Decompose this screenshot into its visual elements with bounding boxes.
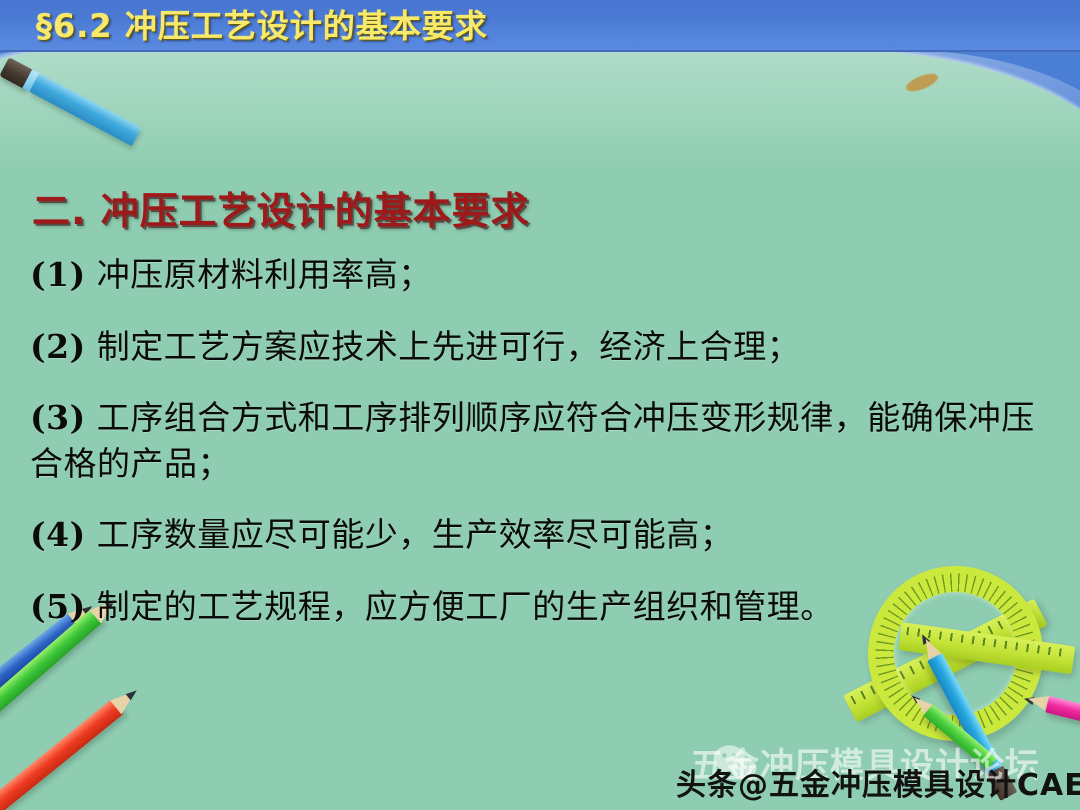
bullet-marker: (3) [30,398,86,437]
bullet-marker: (2) [30,327,86,366]
bullet-item: (2) 制定工艺方案应技术上先进可行，经济上合理； [30,324,1060,370]
slide-header-bar: §6.2 冲压工艺设计的基本要求 [0,0,1080,52]
bullet-text: 制定的工艺规程，应方便工厂的生产组织和管理。 [97,587,834,626]
presentation-slide: §6.2 冲压工艺设计的基本要求 二. 冲压工艺设计的基本要求 (1) 冲压原材… [0,0,1080,810]
bullet-item: (4) 工序数量应尽可能少，生产效率尽可能高； [30,512,1060,558]
bullet-item: (3) 工序组合方式和工序排列顺序应符合冲压变形规律，能确保冲压合格的产品； [30,395,1060,486]
bullet-text: 工序组合方式和工序排列顺序应符合冲压变形规律，能确保冲压合格的产品； [30,398,1035,483]
slide-heading: 二. 冲压工艺设计的基本要求 [32,180,530,235]
bullet-text: 制定工艺方案应技术上先进可行，经济上合理； [97,327,801,366]
bullet-text: 冲压原材料利用率高； [97,255,432,294]
slide-body: 二. 冲压工艺设计的基本要求 (1) 冲压原材料利用率高；(2) 制定工艺方案应… [0,52,1080,810]
watermark-primary: 头条@五金冲压模具设计CAE [676,760,1080,804]
bullet-text: 工序数量应尽可能少，生产效率尽可能高； [97,515,734,554]
bullet-marker: (4) [30,515,86,554]
bullet-item: (5) 制定的工艺规程，应方便工厂的生产组织和管理。 [30,584,1060,630]
bullet-item: (1) 冲压原材料利用率高； [30,252,1060,298]
bullet-marker: (1) [30,255,86,294]
bullet-marker: (5) [30,587,86,626]
slide-section-title: §6.2 冲压工艺设计的基本要求 [36,2,488,50]
bullet-list: (1) 冲压原材料利用率高；(2) 制定工艺方案应技术上先进可行，经济上合理；(… [30,252,1060,655]
